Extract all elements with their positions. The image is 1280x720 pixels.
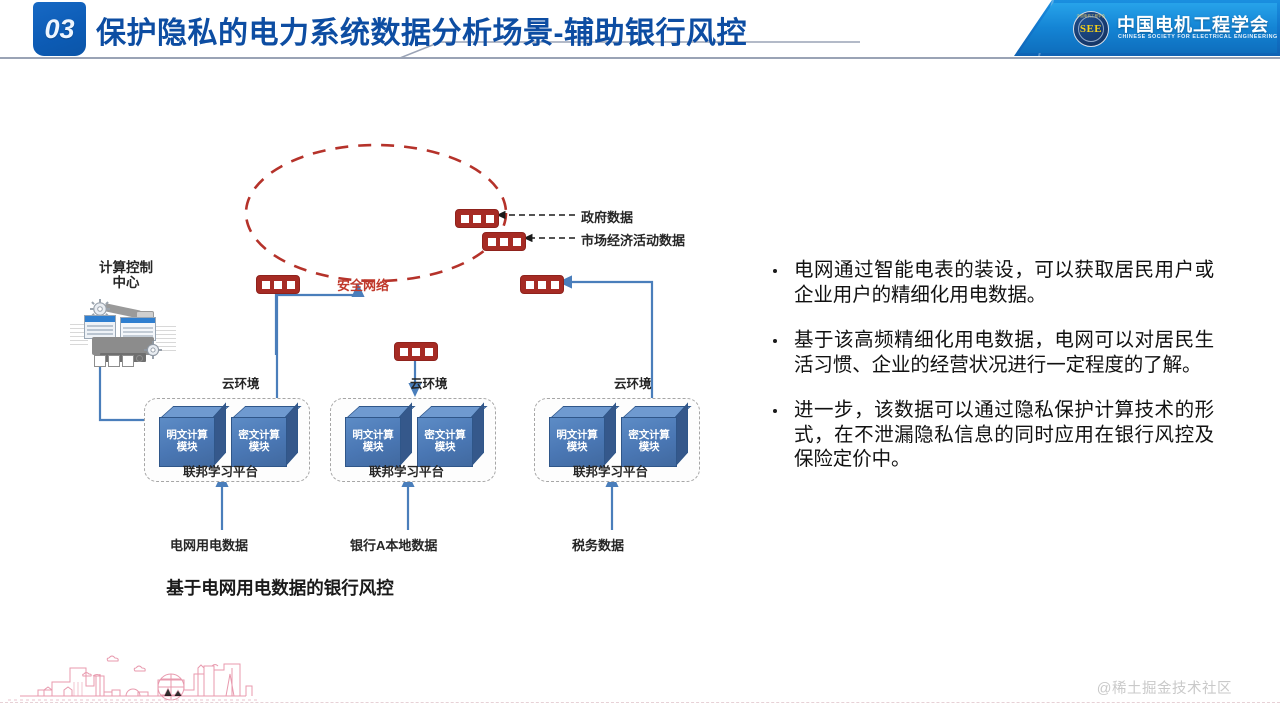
module-plaintext-3: 明文计算 模块: [549, 406, 615, 466]
module-ciphertext-1: 密文计算 模块: [231, 406, 297, 466]
external-source-market: 市场经济活动数据: [581, 230, 685, 249]
module-ciphertext-1-line2: 模块: [249, 441, 270, 453]
architecture-diagram: 计算控制 中心: [0, 70, 760, 630]
module-ciphertext-1-line1: 密文计算: [238, 429, 279, 441]
federated-platform-group2: 明文计算 模块 密文计算 模块 联邦学习平台: [330, 398, 496, 482]
gateway-icon-bottom: [394, 342, 438, 361]
bullet-text-3: 进一步，该数据可以通过隐私保护计算技术的形式，在不泄漏隐私信息的同时应用在银行风…: [794, 398, 1214, 472]
data-source-label-group1: 电网用电数据: [170, 535, 248, 554]
module-ciphertext-3-line1: 密文计算: [628, 429, 669, 441]
control-center-label-line2: 中心: [80, 275, 172, 290]
seal-mark-text: SEE: [1080, 23, 1102, 35]
module-ciphertext-2: 密文计算 模块: [417, 406, 483, 466]
module-ciphertext-3-line2: 模块: [639, 441, 660, 453]
city-skyline-decoration: [8, 646, 258, 708]
module-plaintext-3-line1: 明文计算: [556, 429, 597, 441]
section-number-badge: 03: [33, 2, 86, 56]
module-plaintext-1: 明文计算 模块: [159, 406, 225, 466]
slide: 03 保护隐私的电力系统数据分析场景-辅助银行风控 中国电机工程学会 SEE 中…: [0, 0, 1280, 720]
external-source-government: 政府数据: [581, 207, 633, 226]
watermark-text: @稀土掘金技术社区: [1097, 677, 1232, 698]
bullet-item-2: 基于该高频精细化用电数据，电网可以对居民生活习惯、企业的经营状况进行一定程度的了…: [762, 328, 1214, 377]
gateway-icon-top2: [482, 232, 526, 251]
page-title: 保护隐私的电力系统数据分析场景-辅助银行风控: [96, 6, 747, 54]
platform-label-group1: 联邦学习平台: [183, 461, 258, 480]
link-group1-to-gateway: [277, 290, 358, 398]
gear-icon-small: [144, 341, 162, 359]
gateway-icon-left: [256, 275, 300, 294]
city-skyline-svg: [8, 646, 258, 708]
gateway-icon-top1: [455, 209, 499, 228]
bullet-item-3: 进一步，该数据可以通过隐私保护计算技术的形式，在不泄漏隐私信息的同时应用在银行风…: [762, 398, 1214, 472]
control-center-label: 计算控制 中心: [80, 260, 172, 290]
module-ciphertext-2-line2: 模块: [435, 441, 456, 453]
module-plaintext-2-line1: 明文计算: [352, 429, 393, 441]
cloud-label-group3: 云环境: [614, 373, 652, 392]
control-center-label-line1: 计算控制: [80, 260, 172, 275]
secure-network-label: 安全网络: [337, 275, 389, 294]
section-number: 03: [44, 16, 74, 43]
federated-platform-group1: 明文计算 模块 密文计算 模块 联邦学习平台: [144, 398, 310, 482]
bullet-text-1: 电网通过智能电表的装设，可以获取居民用户或企业用户的精细化用电数据。: [794, 258, 1214, 307]
control-center-machine-icon: [70, 295, 178, 373]
cloud-label-group1: 云环境: [222, 373, 260, 392]
cloud-label-group2: 云环境: [410, 373, 448, 392]
module-ciphertext-3: 密文计算 模块: [621, 406, 687, 466]
data-source-label-group3: 税务数据: [572, 535, 624, 554]
logo-banner-inner: 中国电机工程学会 SEE 中国电机工程学会 CHINESE SOCIETY FO…: [1009, 3, 1277, 53]
platform-label-group2: 联邦学习平台: [369, 461, 444, 480]
bullet-item-1: 电网通过智能电表的装设，可以获取居民用户或企业用户的精细化用电数据。: [762, 258, 1214, 307]
logo-title-en: CHINESE SOCIETY FOR ELECTRICAL ENGINEERI…: [1118, 34, 1278, 40]
diagram-caption: 基于电网用电数据的银行风控: [0, 575, 560, 600]
seal-arc-text: 中国电机工程学会: [1074, 13, 1108, 18]
society-seal-icon: 中国电机工程学会 SEE: [1073, 11, 1109, 47]
control-panel-left: [84, 315, 116, 339]
module-plaintext-1-line1: 明文计算: [166, 429, 207, 441]
federated-platform-group3: 明文计算 模块 密文计算 模块 联邦学习平台: [534, 398, 700, 482]
slide-header: 03 保护隐私的电力系统数据分析场景-辅助银行风控 中国电机工程学会 SEE 中…: [0, 0, 1280, 60]
bullet-list: 电网通过智能电表的装设，可以获取居民用户或企业用户的精细化用电数据。 基于该高频…: [762, 258, 1214, 493]
module-plaintext-2-line2: 模块: [363, 441, 384, 453]
bullet-text-2: 基于该高频精细化用电数据，电网可以对居民生活习惯、企业的经营状况进行一定程度的了…: [794, 328, 1214, 377]
gateway-icon-right: [520, 275, 564, 294]
module-plaintext-2: 明文计算 模块: [345, 406, 411, 466]
data-source-label-group2: 银行A本地数据: [350, 535, 437, 554]
module-ciphertext-2-line1: 密文计算: [424, 429, 465, 441]
module-plaintext-1-line2: 模块: [177, 441, 198, 453]
platform-label-group3: 联邦学习平台: [573, 461, 648, 480]
module-plaintext-3-line2: 模块: [567, 441, 588, 453]
